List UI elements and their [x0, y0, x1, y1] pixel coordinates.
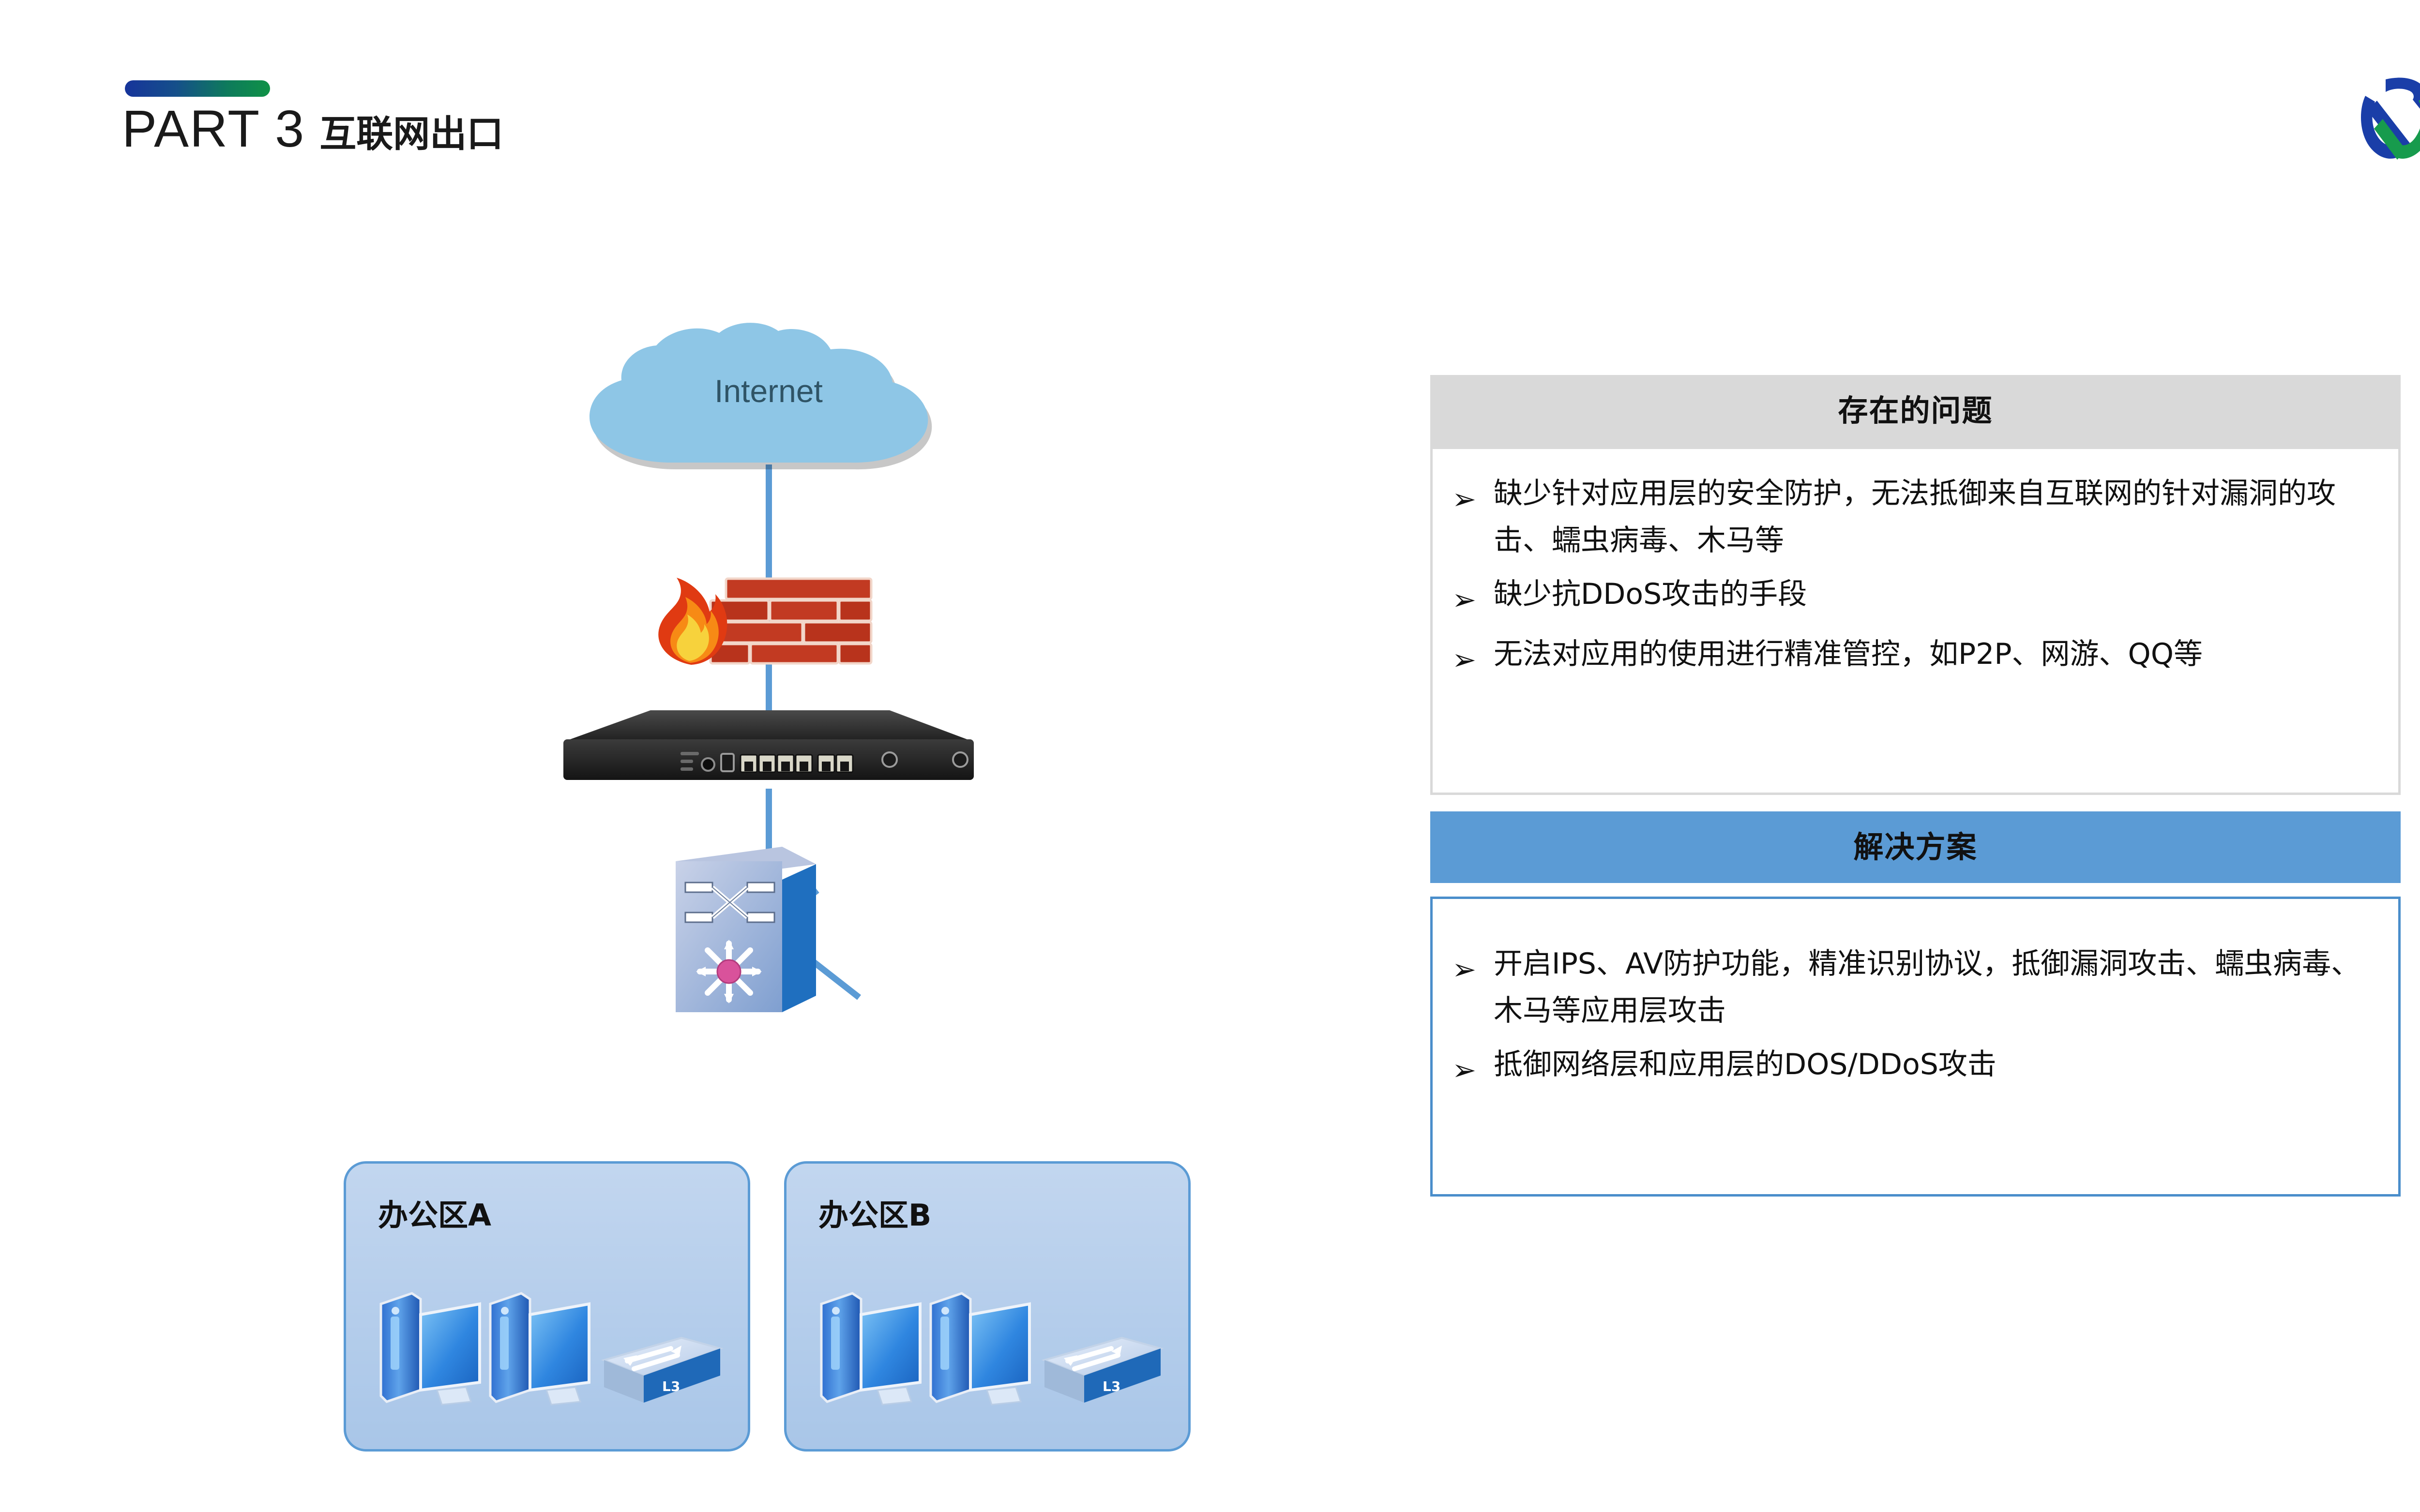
office-zone-b-label: 办公区B	[818, 1191, 931, 1234]
office-zone-b[interactable]: 办公区B	[784, 1161, 1191, 1452]
multilayer-switch-icon	[661, 836, 826, 1025]
list-item-text: 抵御网络层和应用层的DOS/DDoS攻击	[1494, 1041, 2373, 1088]
arrow-bullet-icon: ➢	[1452, 631, 1494, 684]
brand-logo: 数信安全 ID SEC	[2356, 73, 2420, 165]
list-item: ➢ 无法对应用的使用进行精准管控，如P2P、网游、QQ等	[1452, 631, 2373, 684]
arrow-bullet-icon: ➢	[1452, 470, 1494, 523]
solution-panel-body: ➢ 开启IPS、AV防护功能，精准识别协议，抵御漏洞攻击、蠕虫病毒、木马等应用层…	[1430, 897, 2401, 1197]
rack-appliance-icon	[551, 707, 986, 794]
slide-header: PART 3 互联网出口 数信安全 ID SEC	[0, 0, 2420, 203]
list-item-text: 缺少针对应用层的安全防护，无法抵御来自互联网的针对漏洞的攻击、蠕虫病毒、木马等	[1494, 470, 2373, 564]
office-zone-b-devices: L3	[810, 1273, 1168, 1433]
list-item: ➢ 缺少针对应用层的安全防护，无法抵御来自互联网的针对漏洞的攻击、蠕虫病毒、木马…	[1452, 470, 2373, 564]
solution-panel-header: 解决方案	[1430, 811, 2401, 883]
office-zone-a[interactable]: 办公区A	[344, 1161, 750, 1452]
office-zone-a-label: 办公区A	[378, 1191, 491, 1234]
list-item: ➢ 开启IPS、AV防护功能，精准识别协议，抵御漏洞攻击、蠕虫病毒、木马等应用层…	[1452, 941, 2373, 1034]
arrow-bullet-icon: ➢	[1452, 571, 1494, 624]
list-item-text: 缺少抗DDoS攻击的手段	[1494, 571, 2373, 618]
list-item-text: 无法对应用的使用进行精准管控，如P2P、网游、QQ等	[1494, 631, 2373, 678]
section-title: 互联网出口	[319, 116, 503, 152]
idsec-shield-icon	[2356, 73, 2420, 165]
content-panels: 存在的问题 ➢ 缺少针对应用层的安全防护，无法抵御来自互联网的针对漏洞的攻击、蠕…	[1430, 375, 2401, 1197]
arrow-bullet-icon: ➢	[1452, 1041, 1494, 1094]
title-accent-bar	[125, 80, 270, 97]
network-topology-diagram: Internet	[271, 290, 1287, 1403]
problems-panel-header: 存在的问题	[1430, 375, 2401, 447]
internet-label: Internet	[551, 373, 986, 409]
list-item-text: 开启IPS、AV防护功能，精准识别协议，抵御漏洞攻击、蠕虫病毒、木马等应用层攻击	[1494, 941, 2373, 1034]
svg-text:L3: L3	[1103, 1378, 1120, 1394]
list-item: ➢ 缺少抗DDoS攻击的手段	[1452, 571, 2373, 624]
part-label: PART 3	[122, 103, 305, 155]
solution-list: ➢ 开启IPS、AV防护功能，精准识别协议，抵御漏洞攻击、蠕虫病毒、木马等应用层…	[1452, 941, 2373, 1094]
office-zone-a-devices: L3	[369, 1273, 727, 1433]
firewall-icon	[653, 570, 886, 667]
svg-text:L3: L3	[662, 1378, 680, 1394]
page-title: PART 3 互联网出口	[122, 103, 503, 155]
problems-panel-body: ➢ 缺少针对应用层的安全防护，无法抵御来自互联网的针对漏洞的攻击、蠕虫病毒、木马…	[1430, 447, 2401, 795]
list-item: ➢ 抵御网络层和应用层的DOS/DDoS攻击	[1452, 1041, 2373, 1094]
problems-list: ➢ 缺少针对应用层的安全防护，无法抵御来自互联网的针对漏洞的攻击、蠕虫病毒、木马…	[1452, 470, 2373, 684]
arrow-bullet-icon: ➢	[1452, 941, 1494, 993]
